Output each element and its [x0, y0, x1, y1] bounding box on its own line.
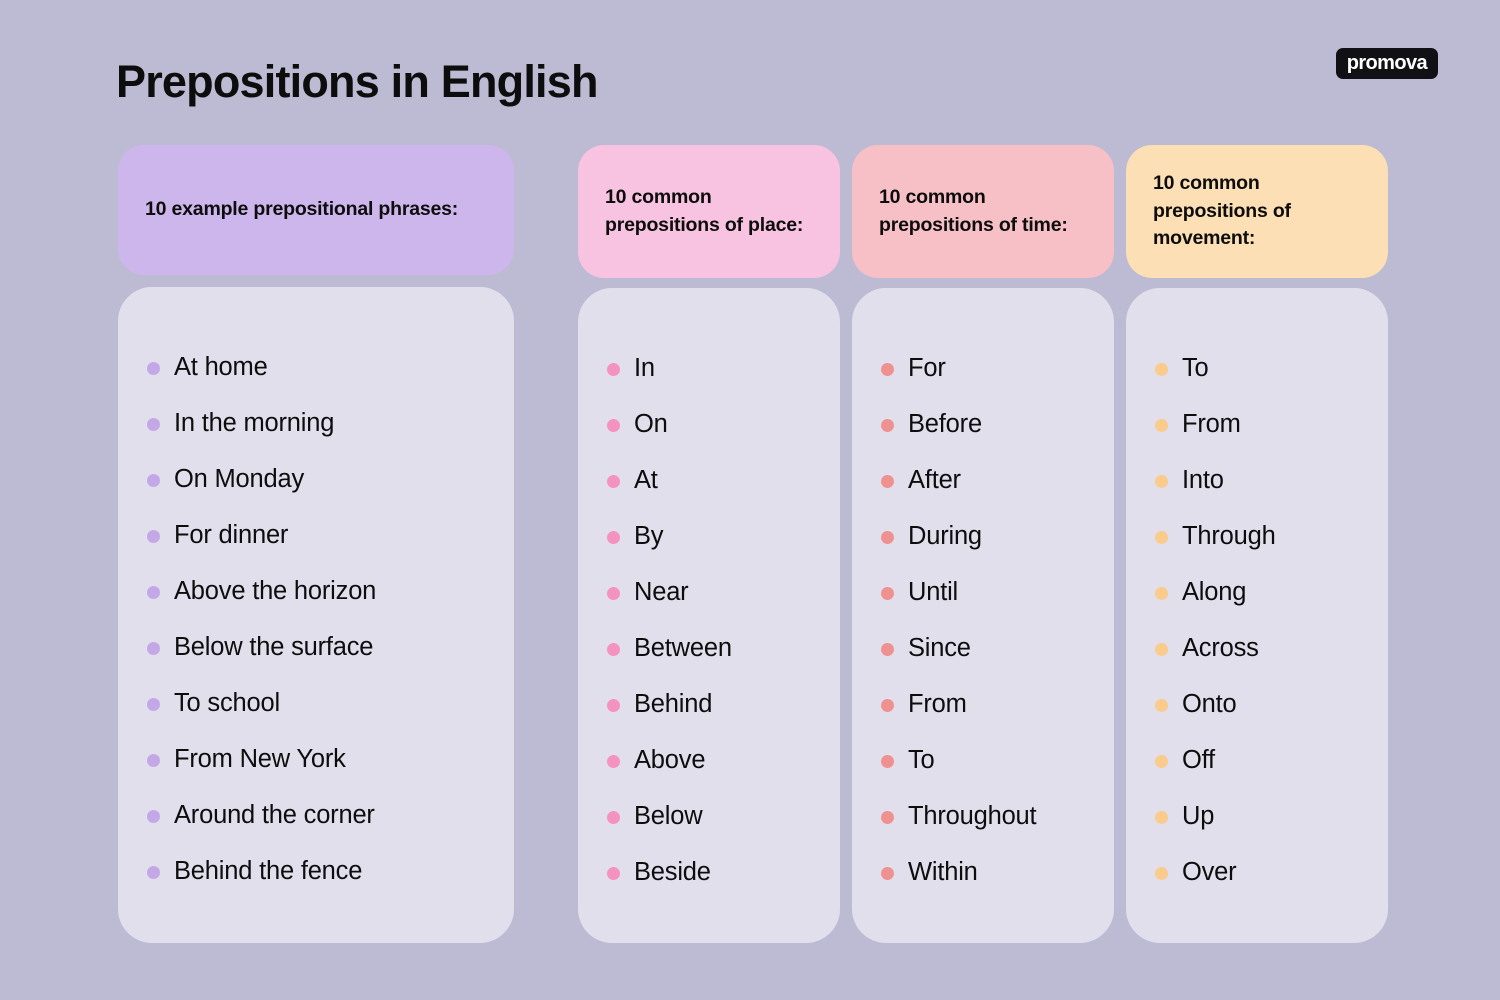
- bullet-icon: [607, 419, 620, 432]
- list-item: Above: [607, 733, 840, 789]
- bullet-icon: [1155, 363, 1168, 376]
- list-item: Around the corner: [147, 788, 514, 844]
- bullet-icon: [1155, 419, 1168, 432]
- list-item-label: Above: [634, 748, 705, 774]
- bullet-icon: [881, 419, 894, 432]
- list-item-label: Up: [1182, 804, 1214, 830]
- list-item: To: [1155, 341, 1388, 397]
- bullet-icon: [881, 867, 894, 880]
- bullet-icon: [147, 866, 160, 879]
- category-column-10-common-prepositions-of-time: 10 common prepositions of time:ForBefore…: [852, 145, 1114, 943]
- bullet-icon: [881, 531, 894, 544]
- list-item-label: Above the horizon: [174, 579, 376, 605]
- list-item: On: [607, 397, 840, 453]
- bullet-icon: [881, 363, 894, 376]
- column-body: ToFromIntoThroughAlongAcrossOntoOffUpOve…: [1126, 288, 1388, 943]
- list-item-label: During: [908, 524, 982, 550]
- category-column-10-example-prepositional-phrases: 10 example prepositional phrases:At home…: [118, 145, 514, 943]
- list-item: Up: [1155, 789, 1388, 845]
- preposition-list: ToFromIntoThroughAlongAcrossOntoOffUpOve…: [1126, 288, 1388, 901]
- bullet-icon: [147, 530, 160, 543]
- list-item: Over: [1155, 845, 1388, 901]
- list-item: Throughout: [881, 789, 1114, 845]
- list-item-label: Throughout: [908, 804, 1036, 830]
- list-item: In the morning: [147, 396, 514, 452]
- bullet-icon: [147, 754, 160, 767]
- list-item-label: To: [1182, 356, 1209, 382]
- bullet-icon: [881, 755, 894, 768]
- list-item-label: From: [908, 692, 967, 718]
- list-item-label: Over: [1182, 860, 1236, 886]
- list-item: Below the surface: [147, 620, 514, 676]
- bullet-icon: [881, 475, 894, 488]
- list-item-label: Into: [1182, 468, 1224, 494]
- list-item-label: In: [634, 356, 655, 382]
- list-item: Off: [1155, 733, 1388, 789]
- bullet-icon: [607, 587, 620, 600]
- list-item: At home: [147, 340, 514, 396]
- column-header: 10 common prepositions of movement:: [1126, 145, 1388, 278]
- columns-container: 10 example prepositional phrases:At home…: [0, 145, 1500, 945]
- list-item-label: Below: [634, 804, 702, 830]
- list-item: From: [881, 677, 1114, 733]
- bullet-icon: [607, 531, 620, 544]
- list-item-label: On Monday: [174, 467, 304, 493]
- bullet-icon: [1155, 475, 1168, 488]
- list-item: Through: [1155, 509, 1388, 565]
- list-item: Along: [1155, 565, 1388, 621]
- bullet-icon: [147, 642, 160, 655]
- list-item-label: From: [1182, 412, 1241, 438]
- preposition-list: ForBeforeAfterDuringUntilSinceFromToThro…: [852, 288, 1114, 901]
- bullet-icon: [881, 811, 894, 824]
- preposition-list: InOnAtByNearBetweenBehindAboveBelowBesid…: [578, 288, 840, 901]
- list-item: Between: [607, 621, 840, 677]
- list-item-label: Until: [908, 580, 958, 606]
- bullet-icon: [147, 418, 160, 431]
- list-item: For: [881, 341, 1114, 397]
- bullet-icon: [607, 699, 620, 712]
- page-title: Prepositions in English: [116, 56, 598, 108]
- bullet-icon: [147, 362, 160, 375]
- list-item-label: Near: [634, 580, 688, 606]
- bullet-icon: [1155, 587, 1168, 600]
- column-header: 10 common prepositions of place:: [578, 145, 840, 278]
- list-item-label: Beside: [634, 860, 711, 886]
- list-item-label: Since: [908, 636, 971, 662]
- list-item-label: Within: [908, 860, 978, 886]
- list-item-label: Around the corner: [174, 803, 375, 829]
- list-item: Until: [881, 565, 1114, 621]
- list-item: From New York: [147, 732, 514, 788]
- list-item-label: Onto: [1182, 692, 1236, 718]
- list-item: Behind: [607, 677, 840, 733]
- list-item: Near: [607, 565, 840, 621]
- list-item: By: [607, 509, 840, 565]
- list-item: At: [607, 453, 840, 509]
- list-item-label: In the morning: [174, 411, 334, 437]
- list-item-label: By: [634, 524, 663, 550]
- list-item-label: From New York: [174, 747, 346, 773]
- list-item: To school: [147, 676, 514, 732]
- column-header: 10 common prepositions of time:: [852, 145, 1114, 278]
- column-body: InOnAtByNearBetweenBehindAboveBelowBesid…: [578, 288, 840, 943]
- promova-logo: promova: [1336, 48, 1438, 79]
- bullet-icon: [1155, 867, 1168, 880]
- list-item: Onto: [1155, 677, 1388, 733]
- bullet-icon: [147, 474, 160, 487]
- preposition-list: At homeIn the morningOn MondayFor dinner…: [118, 287, 514, 900]
- list-item-label: At home: [174, 355, 268, 381]
- bullet-icon: [881, 643, 894, 656]
- list-item: Below: [607, 789, 840, 845]
- list-item-label: Before: [908, 412, 982, 438]
- list-item: Before: [881, 397, 1114, 453]
- bullet-icon: [1155, 531, 1168, 544]
- list-item: For dinner: [147, 508, 514, 564]
- list-item: Beside: [607, 845, 840, 901]
- bullet-icon: [607, 867, 620, 880]
- list-item-label: On: [634, 412, 668, 438]
- bullet-icon: [1155, 811, 1168, 824]
- list-item: After: [881, 453, 1114, 509]
- list-item: Into: [1155, 453, 1388, 509]
- bullet-icon: [147, 810, 160, 823]
- list-item: Behind the fence: [147, 844, 514, 900]
- bullet-icon: [1155, 755, 1168, 768]
- list-item: To: [881, 733, 1114, 789]
- list-item-label: For: [908, 356, 946, 382]
- list-item-label: After: [908, 468, 961, 494]
- list-item: In: [607, 341, 840, 397]
- bullet-icon: [607, 755, 620, 768]
- list-item: Above the horizon: [147, 564, 514, 620]
- list-item: Across: [1155, 621, 1388, 677]
- list-item-label: To: [908, 748, 935, 774]
- list-item: Since: [881, 621, 1114, 677]
- bullet-icon: [607, 475, 620, 488]
- list-item-label: At: [634, 468, 658, 494]
- bullet-icon: [607, 363, 620, 376]
- bullet-icon: [607, 811, 620, 824]
- list-item-label: To school: [174, 691, 280, 717]
- column-body: At homeIn the morningOn MondayFor dinner…: [118, 287, 514, 943]
- list-item-label: Along: [1182, 580, 1246, 606]
- bullet-icon: [147, 586, 160, 599]
- bullet-icon: [1155, 643, 1168, 656]
- column-header: 10 example prepositional phrases:: [118, 145, 514, 275]
- list-item: From: [1155, 397, 1388, 453]
- list-item-label: Between: [634, 636, 732, 662]
- bullet-icon: [881, 587, 894, 600]
- bullet-icon: [147, 698, 160, 711]
- list-item: During: [881, 509, 1114, 565]
- list-item-label: Through: [1182, 524, 1276, 550]
- list-item-label: For dinner: [174, 523, 288, 549]
- list-item-label: Behind: [634, 692, 712, 718]
- page-header: Prepositions in English promova: [0, 0, 1500, 145]
- category-column-10-common-prepositions-of-movement: 10 common prepositions of movement:ToFro…: [1126, 145, 1388, 943]
- bullet-icon: [881, 699, 894, 712]
- list-item: On Monday: [147, 452, 514, 508]
- list-item-label: Across: [1182, 636, 1259, 662]
- bullet-icon: [607, 643, 620, 656]
- column-body: ForBeforeAfterDuringUntilSinceFromToThro…: [852, 288, 1114, 943]
- list-item-label: Below the surface: [174, 635, 373, 661]
- bullet-icon: [1155, 699, 1168, 712]
- category-column-10-common-prepositions-of-place: 10 common prepositions of place:InOnAtBy…: [578, 145, 840, 943]
- list-item-label: Behind the fence: [174, 859, 362, 885]
- list-item: Within: [881, 845, 1114, 901]
- list-item-label: Off: [1182, 748, 1215, 774]
